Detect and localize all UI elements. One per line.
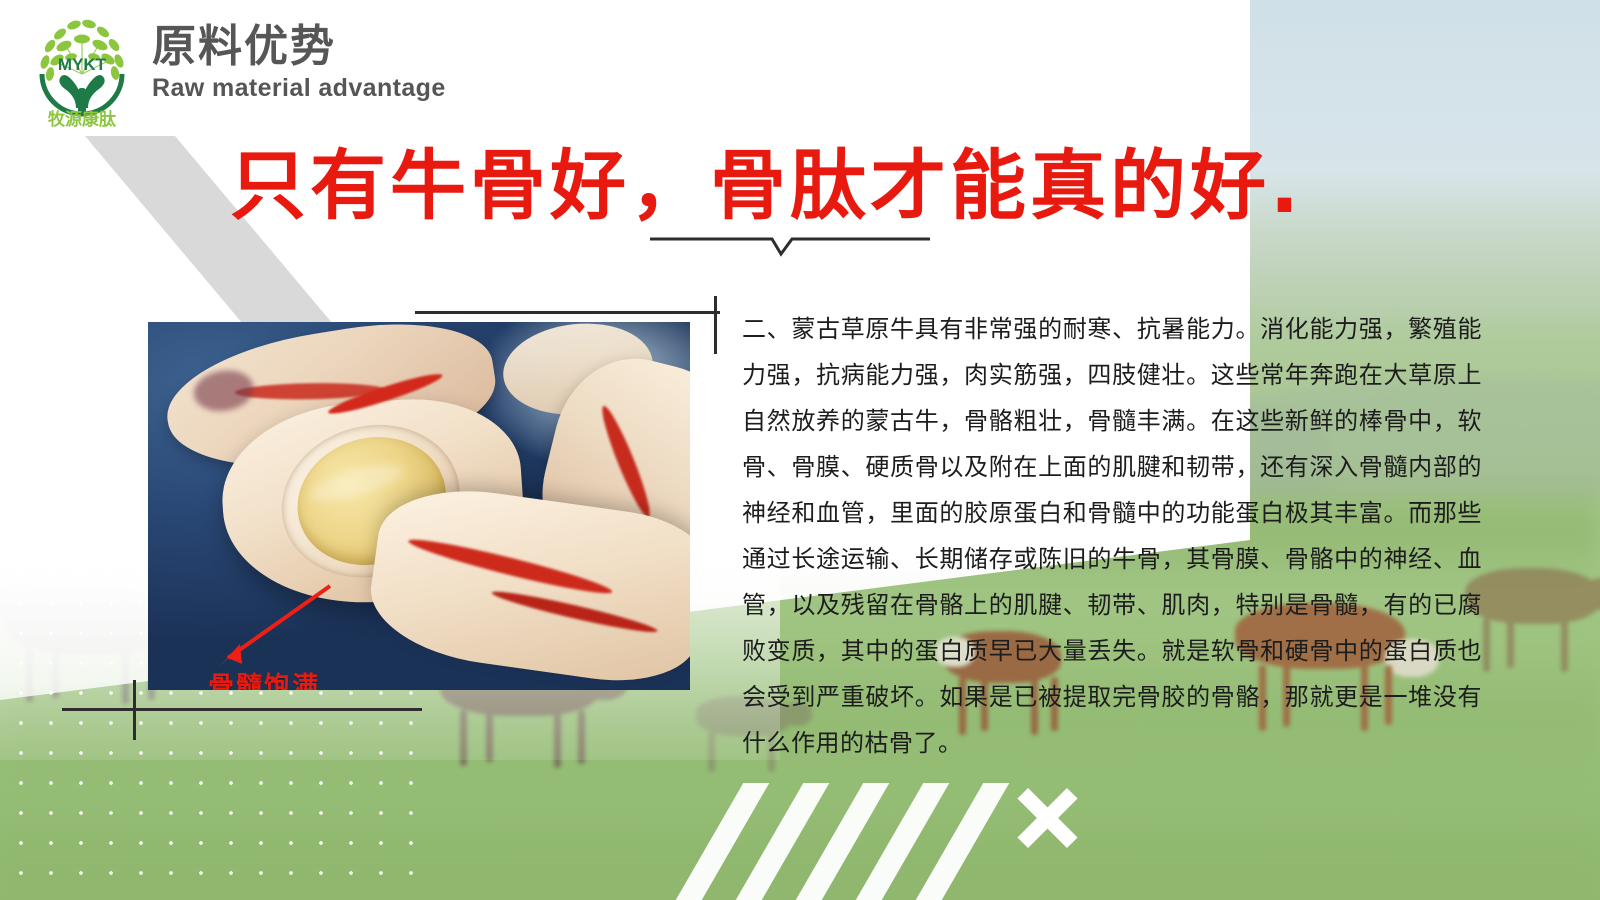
body-paragraph: 二、蒙古草原牛具有非常强的耐寒、抗暑能力。消化能力强，繁殖能力强，抗病能力强，肉… bbox=[742, 306, 1482, 766]
page-title-en: Raw material advantage bbox=[152, 74, 446, 103]
headline-text: 只有牛骨好，骨肽才能真的好. bbox=[230, 124, 1360, 234]
page-title-cn: 原料优势 bbox=[152, 24, 446, 70]
frame-line-bottom bbox=[62, 708, 422, 711]
blood-mark bbox=[596, 403, 656, 520]
notched-rule-icon bbox=[650, 232, 930, 260]
x-mark-icon bbox=[1022, 787, 1086, 851]
bone-photo[interactable]: 骨髓饱满 bbox=[148, 322, 690, 690]
red-arrow-icon bbox=[206, 580, 336, 672]
blood-mark bbox=[406, 533, 614, 600]
frame-line-bottom-vertical bbox=[133, 680, 136, 740]
tree-logo-icon[interactable]: MYKT 牧源康肽 bbox=[26, 12, 138, 130]
logo-name-cn-text: 牧源康肽 bbox=[48, 109, 117, 130]
logo-abbr-text: MYKT bbox=[58, 55, 107, 74]
slide-canvas: MYKT 牧源康肽 原料优势 Raw material advantage 只有… bbox=[0, 0, 1600, 900]
photo-caption: 骨髓饱满 bbox=[208, 666, 320, 690]
page-header: 原料优势 Raw material advantage bbox=[152, 24, 446, 103]
frame-line-top-vertical bbox=[714, 296, 717, 354]
frame-line-top bbox=[415, 311, 720, 314]
diagonal-stripes-decoration bbox=[700, 793, 1030, 900]
blood-mark bbox=[490, 586, 659, 637]
